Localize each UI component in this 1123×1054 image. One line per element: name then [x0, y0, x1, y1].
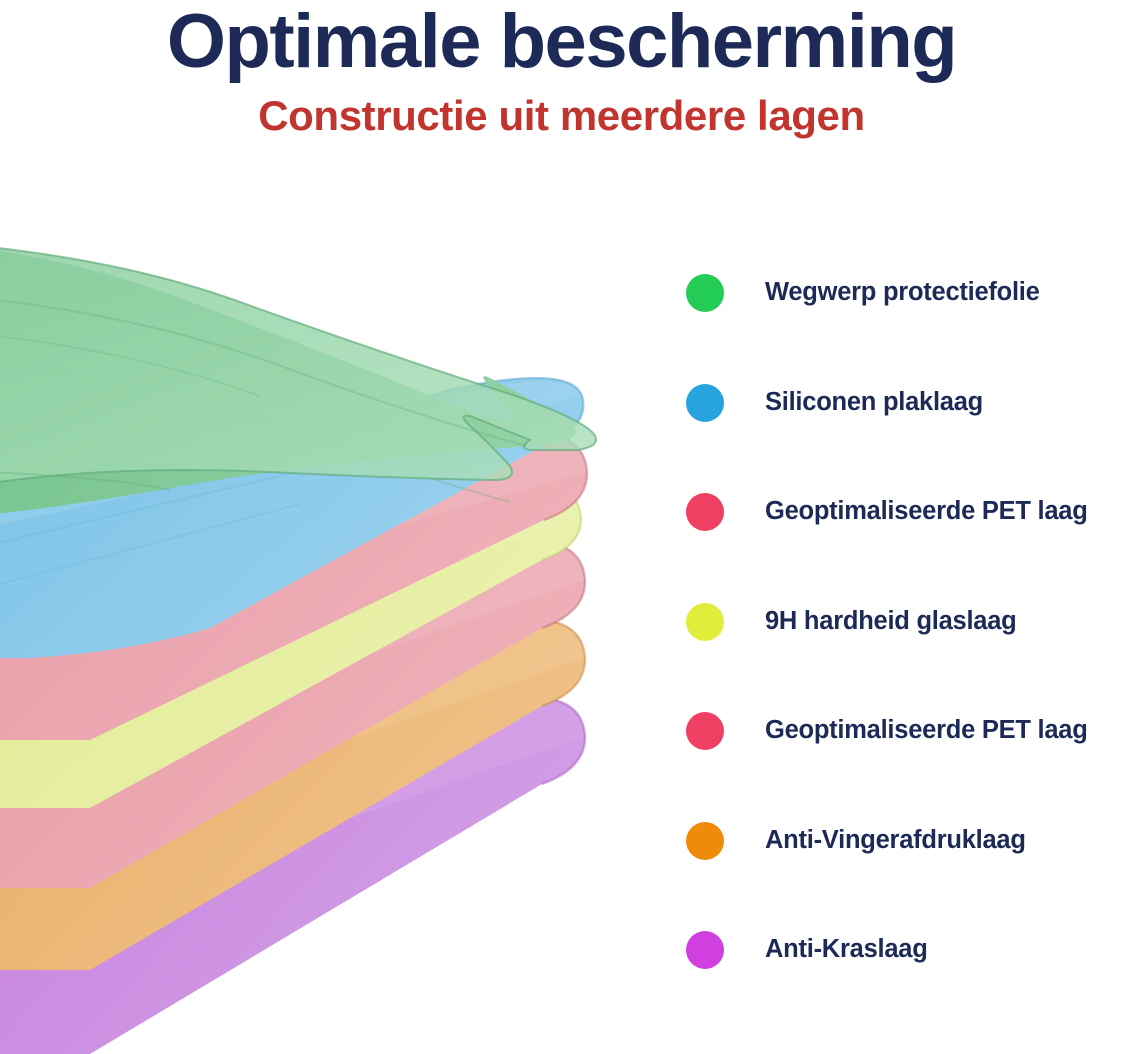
layer-stack-svg [0, 228, 610, 1054]
dot-icon [686, 603, 724, 641]
dot-icon [686, 274, 724, 312]
dot-icon [686, 712, 724, 750]
page-subtitle: Constructie uit meerdere lagen [0, 94, 1123, 138]
legend-item-label: Anti-Vingerafdruklaag [765, 826, 1026, 855]
legend-item-label: Geoptimaliseerde PET laag [765, 716, 1088, 745]
header: Optimale bescherming Constructie uit mee… [0, 0, 1123, 138]
layer-legend: Wegwerp protectiefolie Siliconen plaklaa… [686, 264, 1123, 1031]
legend-item-anti-kraslaag[interactable]: Anti-Kraslaag [686, 921, 1123, 1031]
legend-item-wegwerp-protectiefolie[interactable]: Wegwerp protectiefolie [686, 264, 1123, 374]
infographic-page: Optimale bescherming Constructie uit mee… [0, 0, 1123, 1054]
legend-item-label: Geoptimaliseerde PET laag [765, 497, 1088, 526]
page-title: Optimale bescherming [0, 4, 1123, 80]
dot-icon [686, 822, 724, 860]
legend-item-label: Wegwerp protectiefolie [765, 278, 1040, 307]
legend-item-siliconen-plaklaag[interactable]: Siliconen plaklaag [686, 374, 1123, 484]
dot-icon [686, 384, 724, 422]
dot-icon [686, 931, 724, 969]
legend-item-pet-laag-boven[interactable]: Geoptimaliseerde PET laag [686, 483, 1123, 593]
exploded-layer-stack [0, 228, 610, 1054]
legend-item-label: 9H hardheid glaslaag [765, 607, 1017, 636]
dot-icon [686, 493, 724, 531]
legend-item-9h-glaslaag[interactable]: 9H hardheid glaslaag [686, 593, 1123, 703]
legend-item-label: Anti-Kraslaag [765, 935, 928, 964]
legend-item-anti-vingerafdruklaag[interactable]: Anti-Vingerafdruklaag [686, 812, 1123, 922]
legend-item-pet-laag-onder[interactable]: Geoptimaliseerde PET laag [686, 702, 1123, 812]
legend-item-label: Siliconen plaklaag [765, 388, 983, 417]
